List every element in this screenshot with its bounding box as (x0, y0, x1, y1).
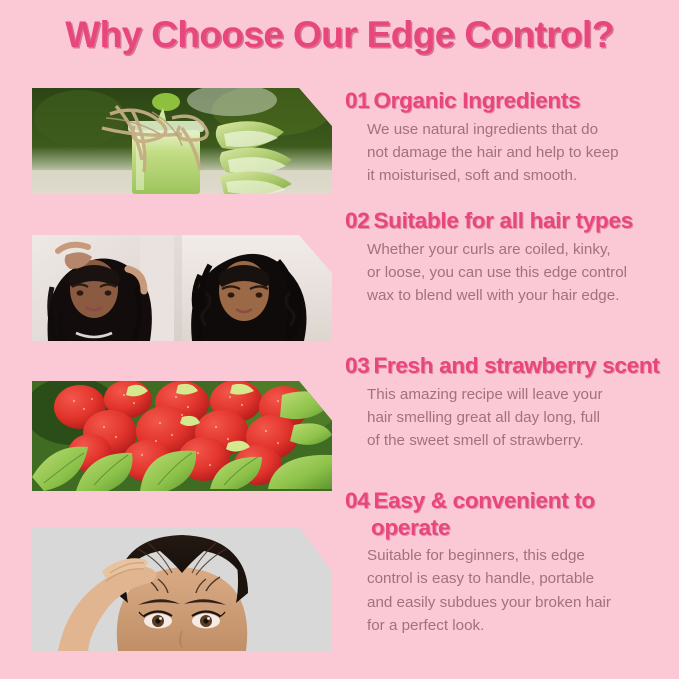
feature-number-2: 02 (345, 208, 369, 233)
woman-sleek-edges-forehead-photo (32, 527, 332, 651)
feature-body-4: Suitable for beginners, this edge contro… (345, 544, 665, 637)
aloe-vera-gel-jar-photo (32, 88, 332, 194)
feature-body-3: This amazing recipe will leave your hair… (345, 383, 665, 453)
page-title: Why Choose Our Edge Control? (0, 14, 679, 56)
feature-image-4 (32, 527, 332, 651)
feature-body-line: for a perfect look. (367, 614, 665, 637)
feature-body-line: Whether your curls are coiled, kinky, (367, 238, 665, 261)
feature-heading-1: 01Organic Ingredients (345, 88, 665, 115)
feature-image-2 (32, 235, 332, 341)
feature-poster: Why Choose Our Edge Control? (0, 0, 679, 679)
feature-body-line: of the sweet smell of strawberry. (367, 429, 665, 452)
feature-text-3: 03Fresh and strawberry scent This amazin… (345, 353, 665, 452)
feature-body-line: not damage the hair and help to keep (367, 141, 665, 164)
feature-heading-4: 04Easy & convenient to operate (345, 488, 665, 541)
feature-image-3 (32, 381, 332, 491)
feature-heading-text-4: Easy & convenient to operate (371, 488, 595, 540)
feature-number-4: 04 (345, 488, 369, 513)
feature-heading-text-1: Organic Ingredients (373, 88, 580, 113)
two-women-curly-hair-photo (32, 235, 332, 341)
feature-text-4: 04Easy & convenient to operate Suitable … (345, 488, 665, 637)
feature-heading-2: 02Suitable for all hair types (345, 208, 665, 235)
feature-body-1: We use natural ingredients that do not d… (345, 118, 665, 188)
feature-body-line: This amazing recipe will leave your (367, 383, 665, 406)
feature-text-2: 02Suitable for all hair types Whether yo… (345, 208, 665, 307)
feature-body-2: Whether your curls are coiled, kinky, or… (345, 238, 665, 308)
feature-body-line: Suitable for beginners, this edge (367, 544, 665, 567)
feature-image-1 (32, 88, 332, 194)
feature-text-1: 01Organic Ingredients We use natural ing… (345, 88, 665, 187)
feature-body-line: control is easy to handle, portable (367, 567, 665, 590)
feature-heading-3: 03Fresh and strawberry scent (345, 353, 665, 380)
feature-body-line: and easily subdues your broken hair (367, 591, 665, 614)
feature-body-line: wax to blend well with your hair edge. (367, 284, 665, 307)
strawberries-with-leaves-photo (32, 381, 332, 491)
feature-body-line: it moisturised, soft and smooth. (367, 164, 665, 187)
feature-number-3: 03 (345, 353, 369, 378)
feature-body-line: hair smelling great all day long, full (367, 406, 665, 429)
feature-heading-text-3: Fresh and strawberry scent (373, 353, 659, 378)
feature-number-1: 01 (345, 88, 369, 113)
feature-heading-text-2: Suitable for all hair types (373, 208, 632, 233)
feature-body-line: We use natural ingredients that do (367, 118, 665, 141)
feature-body-line: or loose, you can use this edge control (367, 261, 665, 284)
